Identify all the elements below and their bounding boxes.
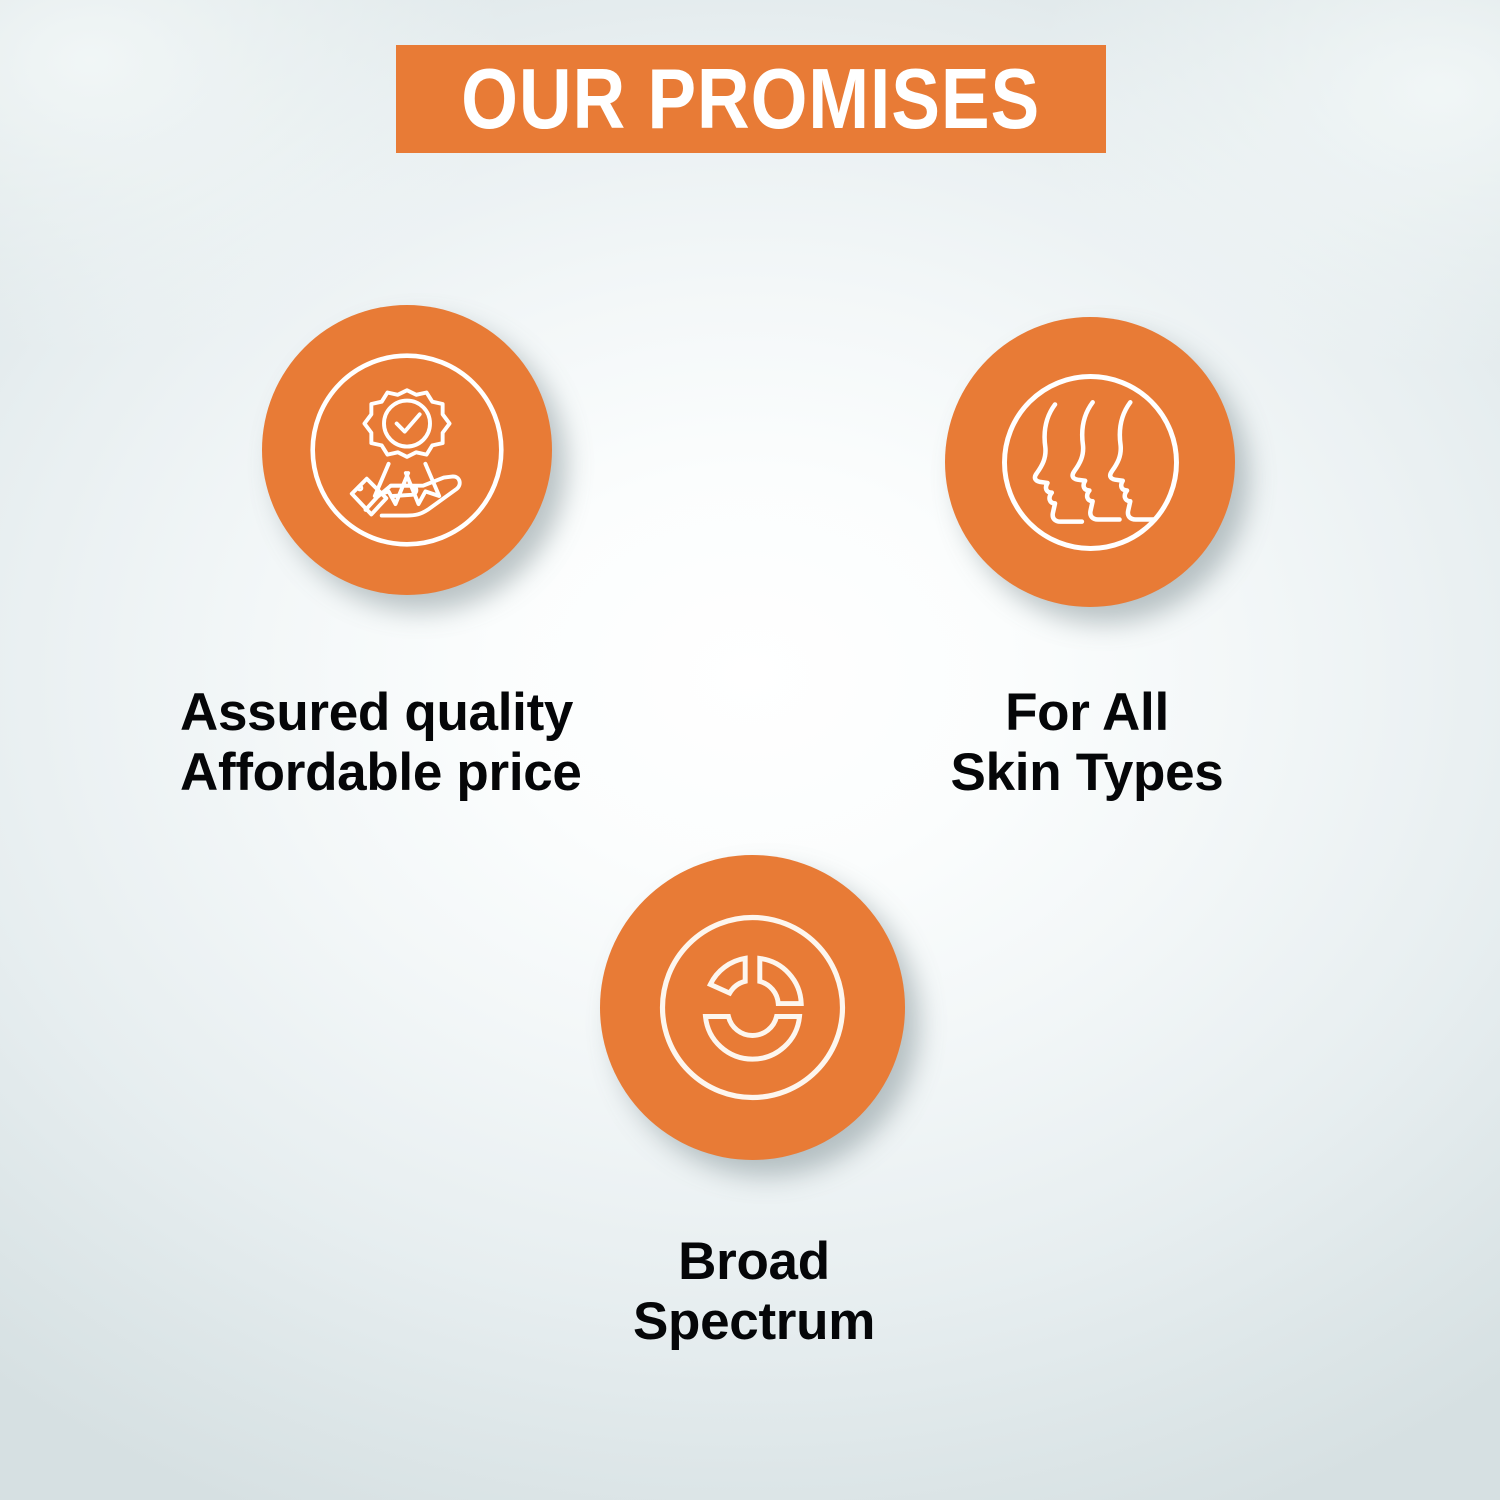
header-banner: OUR PROMISES [396, 45, 1106, 153]
promise-label-broad-spectrum: Broad Spectrum [514, 1232, 994, 1352]
promise-icon-circle-skin [945, 317, 1235, 607]
promise-icon-circle-spectrum [600, 855, 905, 1160]
promise-item-broad-spectrum: Broad Spectrum [600, 855, 910, 1352]
page-title: OUR PROMISES [462, 57, 1041, 142]
hand-holding-quality-badge-icon [292, 335, 522, 565]
promise-icon-circle-quality [262, 305, 552, 595]
promise-label-skin-types: For All Skin Types [897, 683, 1277, 803]
promise-label-assured-quality: Assured quality Affordable price [180, 683, 782, 803]
promise-item-assured-quality: Assured quality Affordable price [262, 305, 782, 803]
promise-item-skin-types: For All Skin Types [945, 317, 1375, 803]
promises-infographic: OUR PROMISES [0, 0, 1500, 1500]
segmented-donut-chart-icon [640, 895, 865, 1120]
three-face-profiles-icon [983, 355, 1198, 570]
